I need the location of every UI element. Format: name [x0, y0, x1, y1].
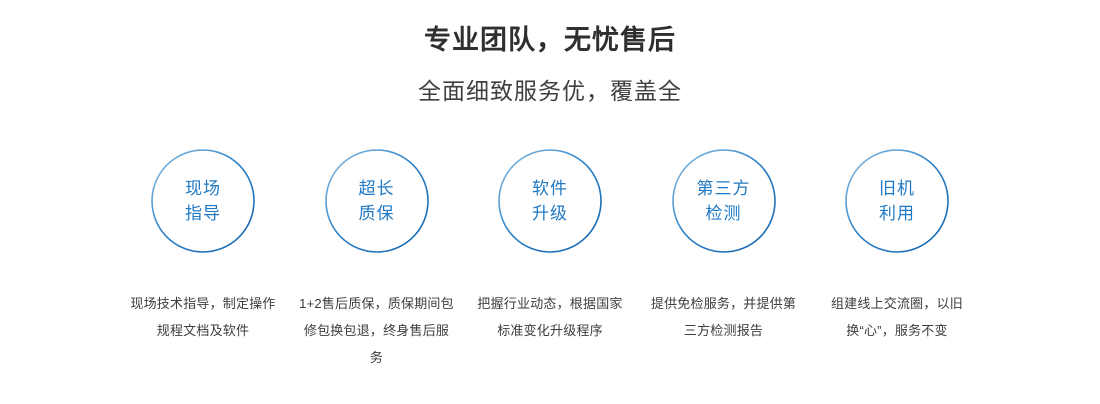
- feature-circle: 第三方 检测: [671, 148, 777, 254]
- feature-circle-label: 现场 指导: [185, 176, 221, 226]
- feature-circle-label: 超长 质保: [359, 176, 395, 226]
- feature-item: 旧机 利用 组建线上交流圈，以旧 换“心”，服务不变: [818, 148, 976, 344]
- feature-circle: 旧机 利用: [844, 148, 950, 254]
- page-subtitle: 全面细致服务优，覆盖全: [0, 78, 1100, 106]
- feature-description: 现场技术指导，制定操作 规程文档及软件: [130, 290, 275, 344]
- service-promo-page: 专业团队，无忧售后 全面细致服务优，覆盖全 现场 指导 现场技术指: [0, 0, 1100, 404]
- feature-item: 现场 指导 现场技术指导，制定操作 规程文档及软件: [124, 148, 282, 344]
- feature-circle: 软件 升级: [497, 148, 603, 254]
- feature-circle: 现场 指导: [150, 148, 256, 254]
- feature-circle-label: 第三方 检测: [697, 176, 751, 226]
- feature-item: 超长 质保 1+2售后质保，质保期间包 修包换包退，终身售后服务: [298, 148, 456, 371]
- feature-item: 软件 升级 把握行业动态，根据国家 标准变化升级程序: [471, 148, 629, 344]
- feature-description: 把握行业动态，根据国家 标准变化升级程序: [477, 290, 622, 344]
- feature-circle-label: 旧机 利用: [879, 176, 915, 226]
- feature-description: 组建线上交流圈，以旧 换“心”，服务不变: [831, 290, 963, 344]
- heading-block: 专业团队，无忧售后 全面细致服务优，覆盖全: [0, 0, 1100, 106]
- feature-circle: 超长 质保: [324, 148, 430, 254]
- feature-description: 提供免检服务，并提供第 三方检测报告: [651, 290, 796, 344]
- feature-list: 现场 指导 现场技术指导，制定操作 规程文档及软件 超长 质保: [124, 148, 976, 371]
- page-title: 专业团队，无忧售后: [0, 24, 1100, 56]
- feature-item: 第三方 检测 提供免检服务，并提供第 三方检测报告: [645, 148, 803, 344]
- feature-description: 1+2售后质保，质保期间包 修包换包退，终身售后服务: [298, 290, 456, 371]
- feature-circle-label: 软件 升级: [532, 176, 568, 226]
